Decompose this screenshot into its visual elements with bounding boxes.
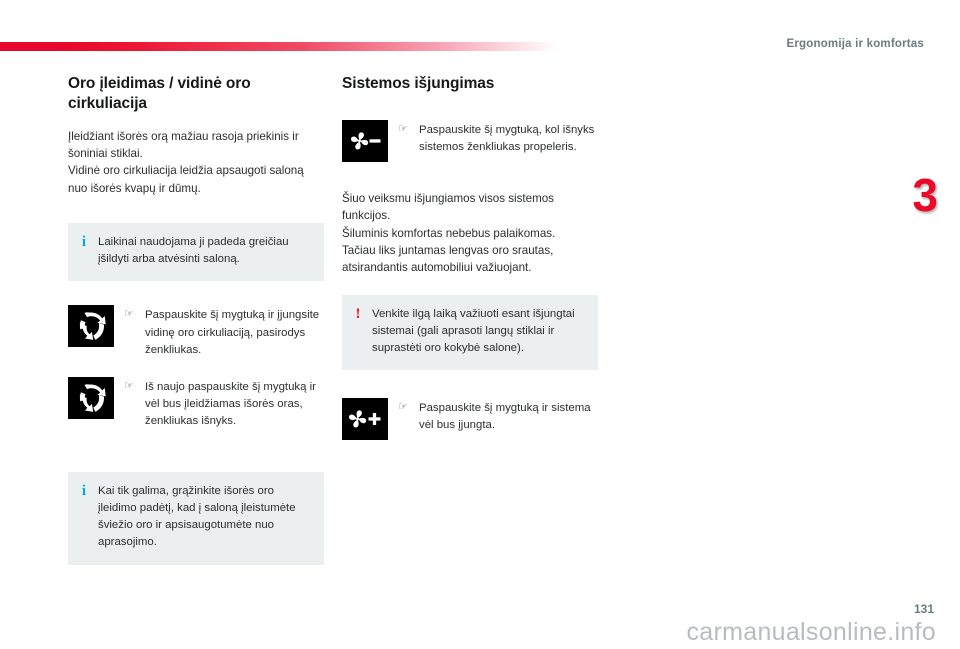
left-column: Oro įleidimas / vidinė oro cirkuliacija … (68, 74, 324, 565)
info-note-text: Laikinai naudojama ji padeda greičiau įš… (98, 234, 312, 268)
instruction-text: Paspauskite šį mygtuką, kol išnyks siste… (419, 122, 598, 156)
page-number: 131 (914, 602, 934, 616)
running-header-title: Ergonomija ir komfortas (786, 38, 924, 50)
info-icon: i (80, 234, 88, 251)
warning-note-system-off: ! Venkite ilgą laiką važiuoti esant išju… (342, 295, 598, 370)
info-note-fresh-air: i Kai tik galima, grąžinkite išorės oro … (68, 472, 324, 564)
instruction-text: Paspauskite šį mygtuką ir įjungsite vidi… (145, 307, 324, 358)
body-paragraph-3: Tačiau liks juntamas lengvas oro srautas… (342, 242, 598, 277)
instruction-recirculation-off: ☞ Iš naujo paspauskite šį mygtuką ir vėl… (68, 377, 324, 430)
fan-plus-icon (342, 398, 388, 440)
intro-paragraph-2: Vidinė oro cirkuliacija leidžia apsaugot… (68, 162, 324, 197)
hand-pointer-icon: ☞ (398, 400, 410, 416)
instruction-system-off: ☞ Paspauskite šį mygtuką, kol išnyks sis… (342, 120, 598, 162)
body-paragraph-1: Šiuo veiksmu išjungiamos visos sistemos … (342, 190, 598, 225)
hand-pointer-icon: ☞ (398, 122, 410, 138)
section-title-system-off: Sistemos išjungimas (342, 74, 598, 94)
info-icon: i (80, 483, 88, 500)
hand-pointer-icon: ☞ (124, 379, 136, 395)
page-title: Oro įleidimas / vidinė oro cirkuliacija (68, 74, 324, 114)
instruction-text: Iš naujo paspauskite šį mygtuką ir vėl b… (145, 379, 324, 430)
manual-page: Ergonomija ir komfortas 3 Oro įleidimas … (0, 0, 960, 649)
warning-note-text: Venkite ilgą laiką važiuoti esant išjung… (372, 306, 586, 357)
right-column: Sistemos išjungimas ☞ Paspauskite (342, 74, 598, 440)
chapter-number: 3 (912, 172, 938, 218)
hand-pointer-icon: ☞ (124, 307, 136, 323)
instruction-system-on: ☞ Paspauskite šį mygtuką ir sistema vėl … (342, 398, 598, 440)
warning-icon: ! (354, 306, 362, 323)
instruction-recirculation-on: ☞ Paspauskite šį mygtuką ir įjungsite vi… (68, 305, 324, 358)
fan-minus-icon (342, 120, 388, 162)
instruction-text: Paspauskite šį mygtuką ir sistema vėl bu… (419, 400, 598, 434)
recirculation-icon (68, 377, 114, 419)
info-note-text: Kai tik galima, grąžinkite išorės oro įl… (98, 483, 312, 551)
info-note-temporary-use: i Laikinai naudojama ji padeda greičiau … (68, 223, 324, 281)
body-paragraph-2: Šiluminis komfortas nebebus palaikomas. (342, 225, 598, 242)
intro-paragraph-1: Įleidžiant išorės orą mažiau rasoja prie… (68, 128, 324, 163)
header-accent-rule (0, 42, 560, 51)
recirculation-icon (68, 305, 114, 347)
watermark: carmanualsonline.info (686, 618, 936, 647)
